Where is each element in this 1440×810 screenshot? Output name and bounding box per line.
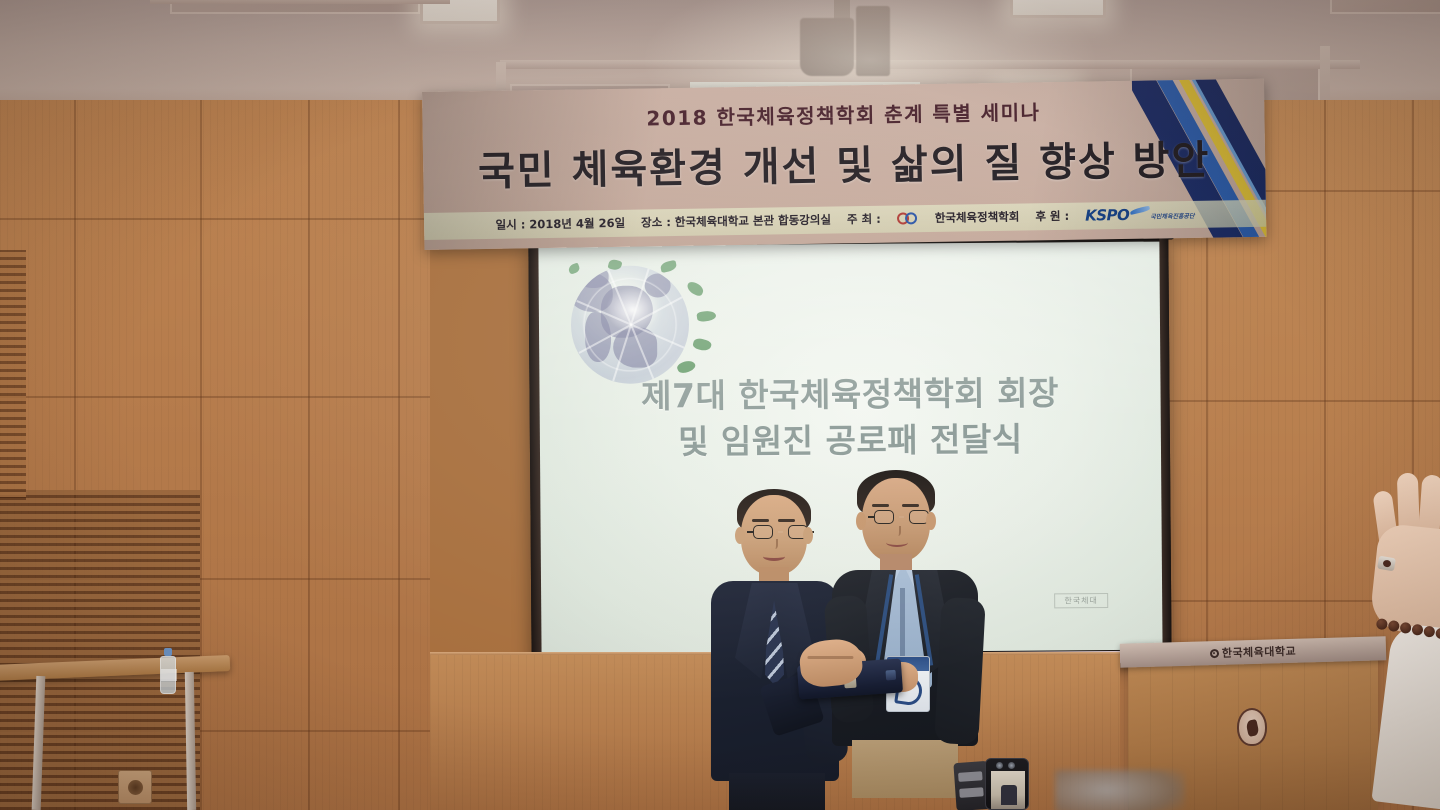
event-banner: 2018 한국체육정책학회 춘계 특별 세미나 국민 체육환경 개선 및 삶의 … <box>422 79 1266 250</box>
athlete-silhouette <box>696 310 716 323</box>
forearm-sleeve <box>1371 622 1440 810</box>
ear <box>803 527 813 544</box>
arm <box>934 597 986 745</box>
society-logo-icon <box>897 212 919 224</box>
projector-lens-housing <box>856 6 890 76</box>
globe-graphic <box>560 260 801 386</box>
slide-title: 제7대 한국체육정책학회 회장 및 임원진 공로패 전달식 <box>539 370 1161 467</box>
athlete-silhouette <box>685 280 705 297</box>
ear <box>926 512 936 530</box>
bottle-cap <box>164 648 172 656</box>
kspo-sub-text: 국민체육진흥공단 <box>1150 211 1194 221</box>
globe-icon <box>571 265 690 384</box>
ring <box>1377 556 1396 572</box>
lectern-label-wrap: 한국체육대학교 <box>1210 643 1297 661</box>
trousers <box>729 773 825 810</box>
phone-screen <box>985 758 1029 810</box>
water-bottle <box>160 648 176 694</box>
ear <box>735 527 745 544</box>
kspo-logo: KSPO국민체육진흥공단 <box>1085 205 1195 225</box>
banner-host-name: 한국체육정책학회 <box>935 209 1020 226</box>
photographer-hand <box>1352 495 1440 810</box>
phone-preview-image <box>991 771 1025 810</box>
lectern-label: 한국체육대학교 <box>1222 643 1297 661</box>
camera-lens-icon <box>996 762 1003 769</box>
banner-date: 일시 : 2018년 4월 26일 <box>495 215 625 233</box>
banner-sponsor-label: 후 원 : <box>1035 208 1069 225</box>
power-outlet <box>118 770 152 804</box>
kspo-swoosh-icon <box>1130 206 1150 214</box>
athlete-silhouette <box>660 260 678 273</box>
eyeglasses-icon <box>753 525 808 539</box>
lectern-logo-icon <box>1210 648 1219 657</box>
smartphone <box>955 758 1035 810</box>
plaque-hinge <box>885 670 896 681</box>
head <box>862 478 930 562</box>
university-crest-icon <box>1237 708 1267 746</box>
slide-title-line2: 및 임원진 공로패 전달식 <box>540 416 1161 467</box>
banner-host-label: 주 최 : <box>847 211 881 228</box>
bottle-label <box>161 669 177 681</box>
ear <box>856 512 866 530</box>
photo-scene: 제7대 한국체육정책학회 회장 및 임원진 공로패 전달식 한국체대 <box>0 0 1440 810</box>
banner-place: 장소 : 한국체육대학교 본관 합동강의실 <box>641 212 831 231</box>
kspo-wordmark: KSPO <box>1085 206 1129 225</box>
bottle-body <box>160 656 176 694</box>
khaki-trousers <box>852 740 958 798</box>
projector <box>800 18 854 76</box>
head <box>741 495 807 575</box>
acoustic-slat-panel <box>0 250 26 500</box>
slide-title-line1: 제7대 한국체육정책학회 회장 <box>641 373 1059 415</box>
athlete-silhouette <box>692 337 712 352</box>
camera-lens-icon <box>1008 762 1015 769</box>
eyeglasses-icon <box>874 510 929 524</box>
screen-watermark: 한국체대 <box>1054 593 1108 608</box>
ceiling-light <box>1010 0 1106 18</box>
foreground-blur <box>1055 770 1185 810</box>
